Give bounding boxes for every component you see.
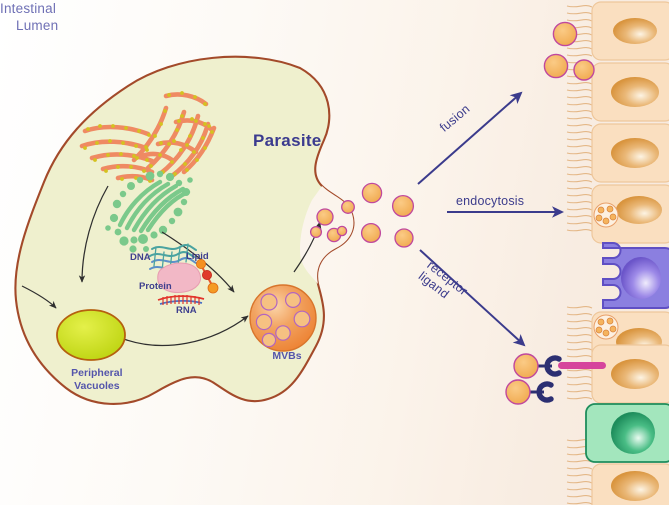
protein-label: Protein xyxy=(139,281,172,292)
peripheral-vacuoles-label-line1: Peripheral xyxy=(71,367,122,379)
epithelial-layer xyxy=(506,2,669,505)
fusion-arrow-line xyxy=(418,93,521,184)
epithelial-cell xyxy=(592,63,669,121)
lipid-label: Lipid xyxy=(186,251,209,262)
pathway-arrows xyxy=(418,93,562,345)
peripheral-vacuoles-label-line2: Vacuoles xyxy=(74,380,120,392)
multivesicular-body xyxy=(250,285,316,351)
epithelial-cell xyxy=(592,124,669,182)
epithelial-cell-with-internalized-vesicle xyxy=(592,185,669,243)
receptor-bar xyxy=(558,362,606,369)
dna-label: DNA xyxy=(130,252,151,263)
rna-label: RNA xyxy=(176,305,197,316)
ligand-hook xyxy=(539,384,551,400)
internalized-mvb xyxy=(594,315,618,339)
green-epithelial-cell xyxy=(586,404,669,462)
peripheral-vacuole xyxy=(57,310,125,360)
peripheral-vacuoles-label: Peripheral Vacuoles xyxy=(53,354,129,406)
diagram-svg xyxy=(0,0,669,505)
diagram-canvas: Parasite Peripheral Vacuoles MVBs DNA Pr… xyxy=(0,0,669,505)
endocytosis-arrow-label: endocytosis xyxy=(456,194,524,208)
fusing-vesicles xyxy=(544,22,594,80)
ligand-hook xyxy=(547,358,559,374)
receptor-ligand-complex xyxy=(506,354,606,404)
epithelial-cells xyxy=(586,2,669,505)
purple-epithelial-cell xyxy=(603,243,669,308)
parasite-label: Parasite xyxy=(253,131,322,151)
epithelial-cell xyxy=(592,2,669,60)
ligand-vesicle xyxy=(506,380,530,404)
epithelial-cell xyxy=(592,464,669,505)
internalized-mvb xyxy=(594,203,618,227)
mvbs-label: MVBs xyxy=(252,350,322,362)
epithelial-cell-with-receptor xyxy=(592,345,669,403)
ligand-vesicle xyxy=(514,354,538,378)
